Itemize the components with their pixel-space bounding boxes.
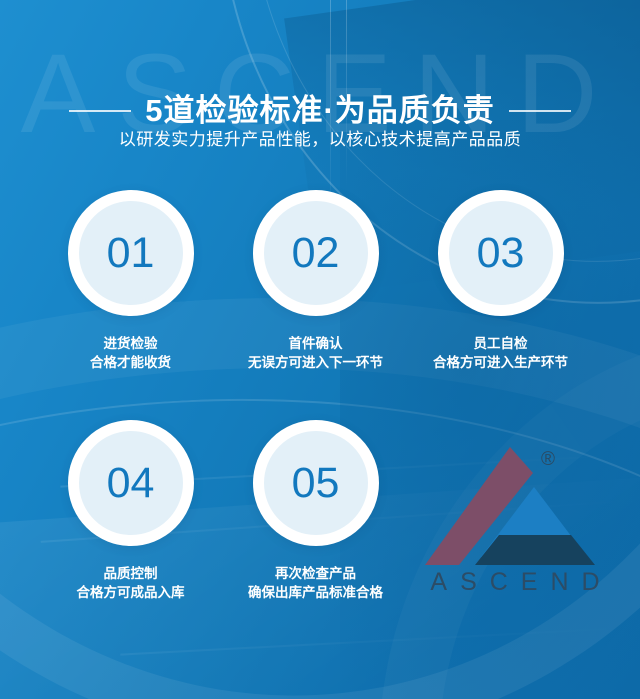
step-desc-04: 合格方可成品入库 — [77, 583, 185, 602]
step-desc-03: 合格方可进入生产环节 — [433, 353, 568, 372]
step-number-04: 04 — [107, 462, 155, 505]
step-circle-01: 01 — [68, 190, 194, 316]
brand-logo: ® ASCEND — [415, 443, 625, 603]
step-item-05: 05 再次检查产品 确保出库产品标准合格 — [223, 420, 408, 602]
logo-base-trapezoid — [475, 535, 595, 565]
step-circle-03: 03 — [438, 190, 564, 316]
step-labels-05: 再次检查产品 确保出库产品标准合格 — [248, 564, 383, 602]
step-title-03: 员工自检 — [433, 334, 568, 353]
step-labels-03: 员工自检 合格方可进入生产环节 — [433, 334, 568, 372]
step-title-01: 进货检验 — [90, 334, 171, 353]
step-desc-05: 确保出库产品标准合格 — [248, 583, 383, 602]
step-labels-02: 首件确认 无误方可进入下一环节 — [248, 334, 383, 372]
step-item-01: 01 进货检验 合格才能收货 — [38, 190, 223, 372]
steps-row-1: 01 进货检验 合格才能收货 02 首件确认 无误方可进入下一环节 03 — [0, 190, 640, 372]
step-title-02: 首件确认 — [248, 334, 383, 353]
brand-wordmark: ASCEND — [415, 570, 615, 595]
step-item-04: 04 品质控制 合格方可成品入库 — [38, 420, 223, 602]
quality-standards-poster: ASCEND 5道检验标准·为品质负责 以研发实力提升产品性能，以核心技术提高产… — [0, 0, 640, 699]
step-item-03: 03 员工自检 合格方可进入生产环节 — [408, 190, 593, 372]
title-rule-right — [509, 110, 571, 112]
step-number-02: 02 — [292, 232, 340, 275]
step-circle-04: 04 — [68, 420, 194, 546]
step-title-05: 再次检查产品 — [248, 564, 383, 583]
title-rule-left — [69, 110, 131, 112]
step-circle-02: 02 — [253, 190, 379, 316]
step-title-04: 品质控制 — [77, 564, 185, 583]
step-number-01: 01 — [107, 232, 155, 275]
step-labels-04: 品质控制 合格方可成品入库 — [77, 564, 185, 602]
step-desc-02: 无误方可进入下一环节 — [248, 353, 383, 372]
page-subtitle: 以研发实力提升产品性能，以核心技术提高产品品质 — [0, 125, 640, 150]
ascend-mark-icon — [415, 443, 625, 573]
step-desc-01: 合格才能收货 — [90, 353, 171, 372]
step-labels-01: 进货检验 合格才能收货 — [90, 334, 171, 372]
step-item-02: 02 首件确认 无误方可进入下一环节 — [223, 190, 408, 372]
step-circle-05: 05 — [253, 420, 379, 546]
step-number-05: 05 — [292, 462, 340, 505]
registered-trademark-icon: ® — [541, 450, 555, 469]
step-number-03: 03 — [477, 232, 525, 275]
